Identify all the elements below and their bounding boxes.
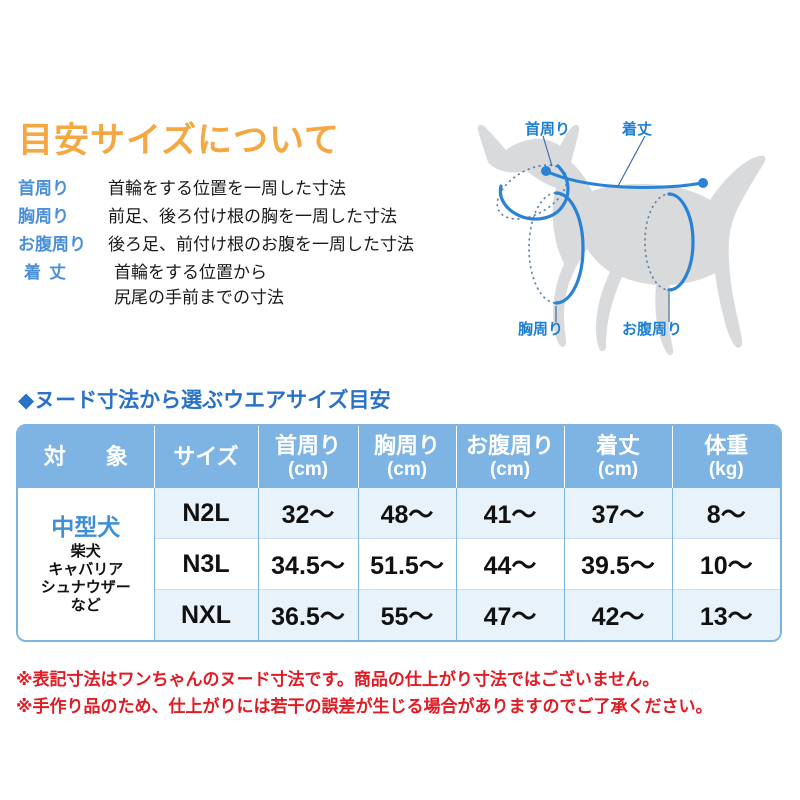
figure-label-back-length: 着丈: [622, 118, 652, 139]
column-header-chest-label: 胸周り: [374, 433, 440, 458]
column-header-size-label: サイズ: [173, 444, 238, 469]
column-header-neck-label: 首周り: [275, 433, 341, 458]
cell-neck: 32〜: [258, 488, 358, 539]
definition-desc-neck-line1: 首輪をする位置を一周した寸法: [108, 179, 346, 198]
table-body: 中型犬 柴犬 キャバリア シュナウザー など N2L 32〜 48〜 41〜 3…: [18, 488, 780, 640]
column-header-chest: 胸周り (cm): [358, 426, 456, 488]
footnote-1: ※表記寸法はワンちゃんのヌード寸法です。商品の仕上がり寸法ではございません。: [16, 666, 796, 693]
definition-term-neck: 首周り: [18, 176, 108, 201]
figure-label-chest: 胸周り: [518, 318, 563, 339]
cell-belly: 41〜: [456, 488, 564, 539]
leader-line-length: [618, 136, 645, 186]
target-breed-line-2: キャバリア: [18, 561, 154, 579]
definition-desc-belly-line1: 後ろ足、前付け根のお腹を一周した寸法: [108, 235, 414, 254]
cell-chest: 48〜: [358, 488, 456, 539]
definition-row-chest: 胸周り 前足、後ろ付け根の胸を一周した寸法: [18, 204, 488, 229]
figure-label-neck: 首周り: [525, 118, 570, 139]
column-header-neck-unit: (cm): [259, 459, 358, 480]
target-breed-line-1: 柴犬: [18, 543, 154, 561]
column-header-target: 対 象: [18, 426, 154, 488]
column-header-back-length-unit: (cm): [565, 459, 672, 480]
back-length-end-dot: [698, 178, 708, 188]
table-header: 対 象 サイズ 首周り (cm) 胸周り (cm) お腹周り (cm): [18, 426, 780, 488]
cell-belly: 47〜: [456, 590, 564, 641]
column-header-belly: お腹周り (cm): [456, 426, 564, 488]
cell-belly: 44〜: [456, 539, 564, 590]
column-header-back-length: 着丈 (cm): [564, 426, 672, 488]
definition-desc-belly: 後ろ足、前付け根のお腹を一周した寸法: [108, 232, 414, 257]
cell-chest: 51.5〜: [358, 539, 456, 590]
definition-row-neck: 首周り 首輪をする位置を一周した寸法: [18, 176, 488, 201]
size-chart-table: 対 象 サイズ 首周り (cm) 胸周り (cm) お腹周り (cm): [18, 426, 780, 640]
cell-weight: 13〜: [672, 590, 780, 641]
target-breed-line-4: など: [18, 597, 154, 615]
target-breed-category: 中型犬: [18, 513, 154, 542]
definition-desc-chest: 前足、後ろ付け根の胸を一周した寸法: [108, 204, 397, 229]
footnote-2: ※手作り品のため、仕上がりには若干の誤差が生じる場合がありますのでご了承ください…: [16, 693, 796, 720]
column-header-weight-label: 体重: [704, 433, 748, 458]
column-header-belly-unit: (cm): [457, 459, 564, 480]
cell-weight: 8〜: [672, 488, 780, 539]
definition-row-length: 着丈 首輪をする位置から 尻尾の手前までの寸法: [18, 260, 488, 310]
column-header-belly-label: お腹周り: [466, 433, 554, 458]
definition-desc-length: 首輪をする位置から 尻尾の手前までの寸法: [114, 260, 284, 310]
definition-term-chest: 胸周り: [18, 204, 108, 229]
definition-term-belly: お腹周り: [18, 232, 108, 257]
cell-back-length: 42〜: [564, 590, 672, 641]
back-length-start-dot: [541, 166, 551, 176]
definition-desc-length-line2: 尻尾の手前までの寸法: [114, 285, 284, 310]
column-header-weight: 体重 (kg): [672, 426, 780, 488]
cell-size: N3L: [154, 539, 258, 590]
target-breed-cell: 中型犬 柴犬 キャバリア シュナウザー など: [18, 488, 154, 640]
definition-row-belly: お腹周り 後ろ足、前付け根のお腹を一周した寸法: [18, 232, 488, 257]
definition-term-length: 着丈: [18, 260, 114, 285]
cell-back-length: 37〜: [564, 488, 672, 539]
definition-desc-neck: 首輪をする位置を一周した寸法: [108, 176, 346, 201]
size-chart-table-container: 対 象 サイズ 首周り (cm) 胸周り (cm) お腹周り (cm): [16, 424, 782, 642]
column-header-neck: 首周り (cm): [258, 426, 358, 488]
page-title: 目安サイズについて: [18, 112, 340, 163]
figure-label-belly: お腹周り: [622, 318, 682, 339]
column-header-chest-unit: (cm): [359, 459, 456, 480]
measurement-definitions: 首周り 首輪をする位置を一周した寸法 胸周り 前足、後ろ付け根の胸を一周した寸法…: [18, 176, 488, 313]
definition-desc-length-line1: 首輪をする位置から: [114, 263, 267, 282]
cell-neck: 34.5〜: [258, 539, 358, 590]
size-chart-heading: ◆ヌード寸法から選ぶウエアサイズ目安: [18, 384, 391, 414]
definition-desc-chest-line1: 前足、後ろ付け根の胸を一周した寸法: [108, 207, 397, 226]
cell-weight: 10〜: [672, 539, 780, 590]
cell-neck: 36.5〜: [258, 590, 358, 641]
dog-silhouette-svg: [440, 100, 800, 375]
cell-size: N2L: [154, 488, 258, 539]
cell-back-length: 39.5〜: [564, 539, 672, 590]
column-header-weight-unit: (kg): [673, 459, 781, 480]
target-breed-line-3: シュナウザー: [18, 579, 154, 597]
column-header-size: サイズ: [154, 426, 258, 488]
table-row: 中型犬 柴犬 キャバリア シュナウザー など N2L 32〜 48〜 41〜 3…: [18, 488, 780, 539]
column-header-target-label: 対 象: [35, 444, 137, 469]
table-header-row: 対 象 サイズ 首周り (cm) 胸周り (cm) お腹周り (cm): [18, 426, 780, 488]
cell-size: NXL: [154, 590, 258, 641]
column-header-back-length-label: 着丈: [596, 433, 640, 458]
cell-chest: 55〜: [358, 590, 456, 641]
footnotes: ※表記寸法はワンちゃんのヌード寸法です。商品の仕上がり寸法ではございません。 ※…: [16, 666, 796, 720]
dog-measurement-diagram: 首周り 着丈 胸周り お腹周り: [440, 100, 800, 375]
